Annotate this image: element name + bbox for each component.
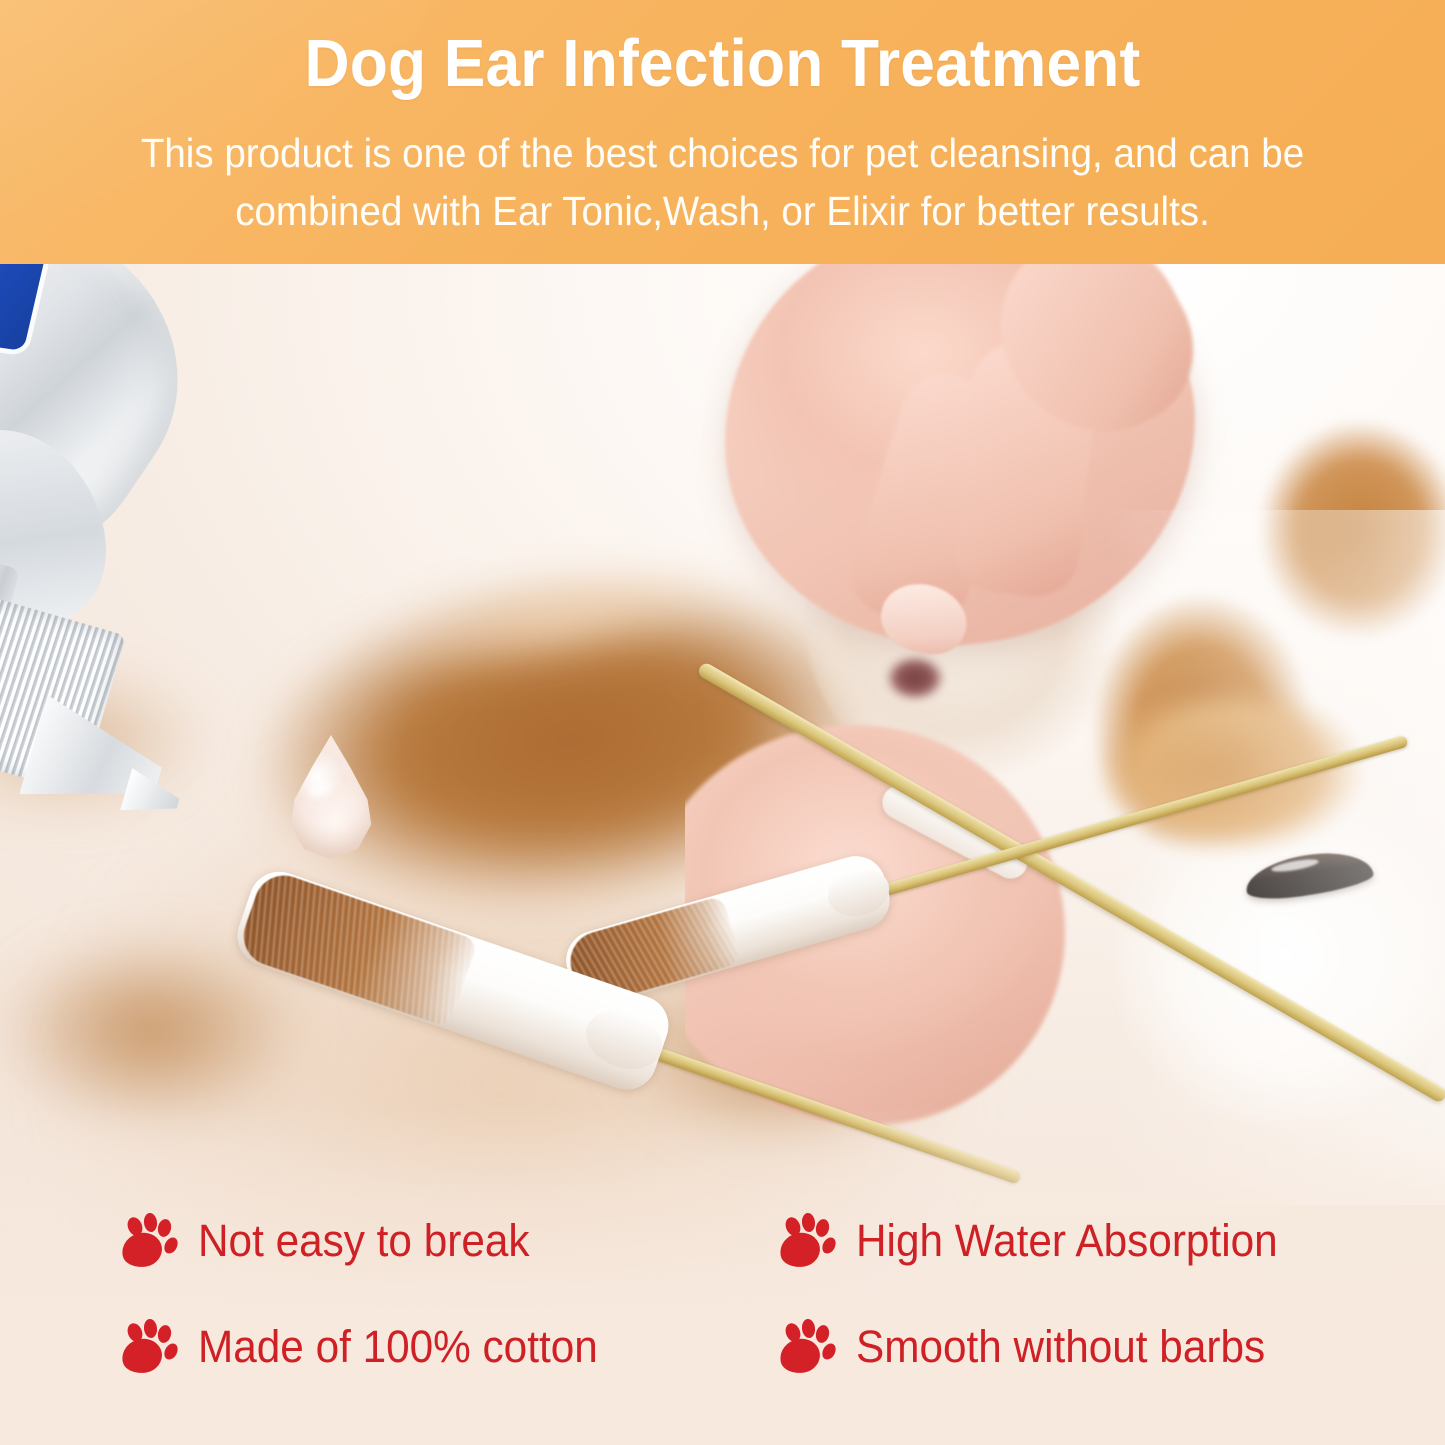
header-banner: Dog Ear Infection Treatment This product…	[0, 0, 1445, 264]
swab-earwax-stain	[236, 867, 479, 1027]
paw-pad	[119, 1230, 164, 1270]
product-marketing-image: Verified Dog Ear Infection Treatment	[0, 0, 1445, 1445]
paw-toe	[820, 1235, 839, 1256]
paw-toe	[162, 1235, 181, 1256]
paw-toe	[814, 1218, 830, 1238]
feature-list: Not easy to break High Water Absorption	[0, 1195, 1445, 1445]
paw-pad	[119, 1336, 164, 1376]
paw-pad	[777, 1230, 822, 1270]
feature-item: Smooth without barbs	[778, 1319, 1385, 1373]
feature-label: Smooth without barbs	[856, 1324, 1265, 1369]
feature-label: Made of 100% cotton	[198, 1324, 598, 1369]
page-title: Dog Ear Infection Treatment	[51, 30, 1395, 98]
paw-toe	[814, 1324, 830, 1344]
page-subtitle: This product is one of the best choices …	[100, 124, 1346, 240]
feature-grid: Not easy to break High Water Absorption	[120, 1213, 1385, 1373]
feature-label: High Water Absorption	[856, 1218, 1278, 1263]
paw-print-icon	[120, 1213, 176, 1267]
paw-toe	[156, 1324, 172, 1344]
paw-toe	[162, 1341, 181, 1362]
paw-toe	[801, 1212, 816, 1232]
paw-toe	[143, 1318, 158, 1338]
feature-label: Not easy to break	[198, 1218, 530, 1263]
paw-print-icon	[778, 1319, 834, 1373]
dog-ear-canal-lower	[885, 655, 945, 701]
paw-print-icon	[120, 1319, 176, 1373]
paw-print-icon	[778, 1213, 834, 1267]
paw-toe	[820, 1341, 839, 1362]
feature-item: High Water Absorption	[778, 1213, 1385, 1267]
paw-toe	[801, 1318, 816, 1338]
paw-toe	[143, 1212, 158, 1232]
paw-toe	[156, 1218, 172, 1238]
paw-pad	[777, 1336, 822, 1376]
feature-item: Made of 100% cotton	[120, 1319, 760, 1373]
feature-item: Not easy to break	[120, 1213, 760, 1267]
